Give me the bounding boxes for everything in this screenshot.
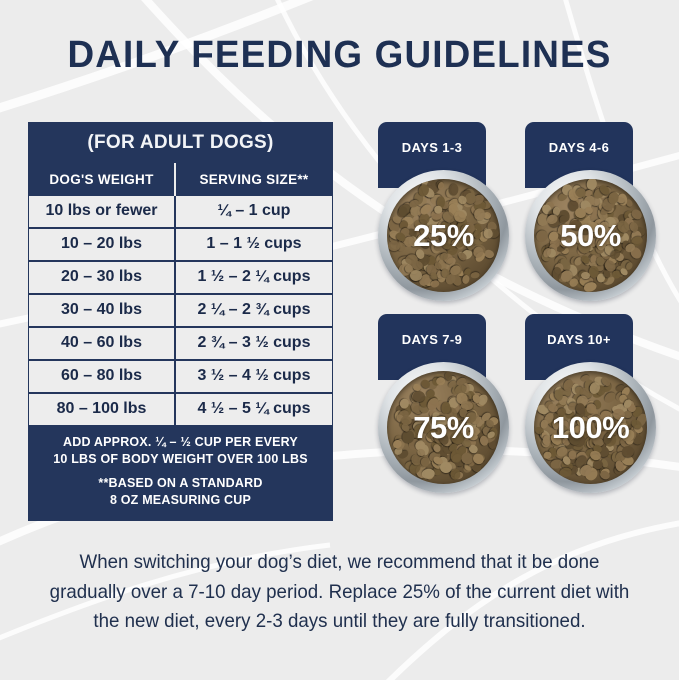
- table-row: 60 – 80 lbs 3 ½ – 4 ½ cups: [29, 359, 332, 392]
- cell-serving: 2 ¾ – 3 ½ cups: [176, 328, 332, 359]
- dog-bowl-icon: 75%: [378, 362, 509, 493]
- dog-bowl-icon: 25%: [378, 170, 509, 301]
- column-header-serving: SERVING SIZE**: [176, 163, 332, 196]
- cell-weight: 60 – 80 lbs: [29, 361, 176, 392]
- cell-weight: 20 – 30 lbs: [29, 262, 176, 293]
- transition-instructions-text: When switching your dog’s diet, we recom…: [46, 548, 633, 637]
- column-header-weight: DOG'S WEIGHT: [29, 163, 176, 196]
- transition-card-days-1-3: DAYS 1-3 25%: [366, 118, 526, 310]
- cell-weight: 10 lbs or fewer: [29, 196, 176, 227]
- table-body: 10 lbs or fewer ¼ – 1 cup 10 – 20 lbs 1 …: [29, 196, 332, 425]
- card-days-label: DAYS 1-3: [378, 122, 486, 172]
- cell-serving: 3 ½ – 4 ½ cups: [176, 361, 332, 392]
- feeding-guidelines-table: (FOR ADULT DOGS) DOG'S WEIGHT SERVING SI…: [28, 122, 333, 521]
- card-days-label: DAYS 10+: [525, 314, 633, 364]
- table-row: 20 – 30 lbs 1 ½ – 2 ¼ cups: [29, 260, 332, 293]
- card-percent-label: 50%: [525, 170, 656, 301]
- table-footnote: ADD APPROX. ¼ – ½ CUP PER EVERY 10 LBS O…: [29, 425, 332, 520]
- card-days-label: DAYS 7-9: [378, 314, 486, 364]
- page-title: DAILY FEEDING GUIDELINES: [10, 34, 669, 77]
- table-row: 30 – 40 lbs 2 ¼ – 2 ¾ cups: [29, 293, 332, 326]
- cell-serving: 2 ¼ – 2 ¾ cups: [176, 295, 332, 326]
- table-title: (FOR ADULT DOGS): [29, 123, 332, 163]
- footnote-line-4: 8 OZ MEASURING CUP: [37, 492, 324, 509]
- footnote-line-1: ADD APPROX. ¼ – ½ CUP PER EVERY: [37, 434, 324, 451]
- table-header-row: DOG'S WEIGHT SERVING SIZE**: [29, 163, 332, 196]
- cell-serving: ¼ – 1 cup: [176, 196, 332, 227]
- cell-weight: 40 – 60 lbs: [29, 328, 176, 359]
- cell-serving: 1 ½ – 2 ¼ cups: [176, 262, 332, 293]
- transition-card-days-4-6: DAYS 4-6 50%: [513, 118, 673, 310]
- cell-weight: 10 – 20 lbs: [29, 229, 176, 260]
- cell-weight: 80 – 100 lbs: [29, 394, 176, 425]
- cell-serving: 1 – 1 ½ cups: [176, 229, 332, 260]
- table-row: 40 – 60 lbs 2 ¾ – 3 ½ cups: [29, 326, 332, 359]
- card-days-label: DAYS 4-6: [525, 122, 633, 172]
- table-row: 10 lbs or fewer ¼ – 1 cup: [29, 196, 332, 227]
- card-percent-label: 75%: [378, 362, 509, 493]
- card-percent-label: 25%: [378, 170, 509, 301]
- cell-weight: 30 – 40 lbs: [29, 295, 176, 326]
- card-percent-label: 100%: [525, 362, 656, 493]
- transition-card-days-7-9: DAYS 7-9 75%: [366, 310, 526, 502]
- dog-bowl-icon: 100%: [525, 362, 656, 493]
- transition-card-days-10-plus: DAYS 10+ 100%: [513, 310, 673, 502]
- cell-serving: 4 ½ – 5 ¼ cups: [176, 394, 332, 425]
- footnote-line-3: **BASED ON A STANDARD: [37, 475, 324, 492]
- table-row: 10 – 20 lbs 1 – 1 ½ cups: [29, 227, 332, 260]
- dog-bowl-icon: 50%: [525, 170, 656, 301]
- table-row: 80 – 100 lbs 4 ½ – 5 ¼ cups: [29, 392, 332, 425]
- footnote-line-2: 10 LBS OF BODY WEIGHT OVER 100 LBS: [37, 451, 324, 468]
